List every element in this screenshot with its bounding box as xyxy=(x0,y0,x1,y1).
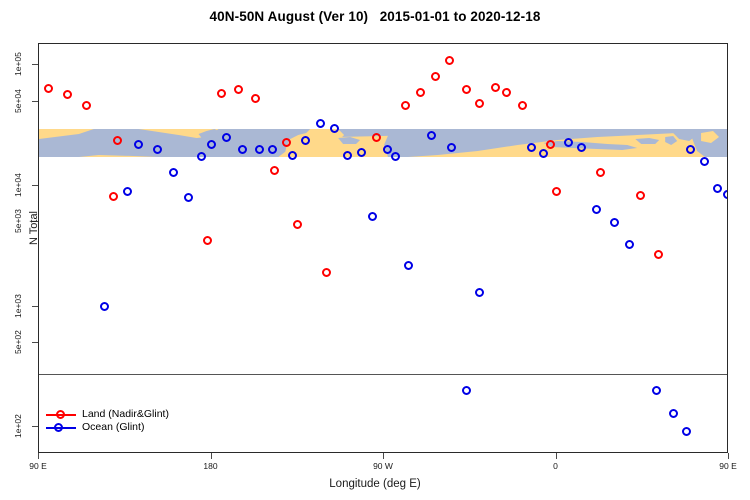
legend: Land (Nadir&Glint) Ocean (Glint) xyxy=(46,408,169,434)
data-point-ocean xyxy=(238,145,247,154)
y-axis-tick-label: 1e+05 xyxy=(13,47,23,81)
data-point-land xyxy=(322,268,331,277)
data-point-land xyxy=(636,191,645,200)
x-axis-tick xyxy=(38,453,39,459)
y-axis-tick-label: 5e+03 xyxy=(13,204,23,238)
data-point-ocean xyxy=(682,427,691,436)
data-point-ocean xyxy=(577,143,586,152)
data-point-ocean xyxy=(123,187,132,196)
x-axis-tick-label: 90 W xyxy=(373,461,393,471)
data-point-land xyxy=(109,192,118,201)
data-point-ocean xyxy=(197,152,206,161)
x-axis-tick xyxy=(728,453,729,459)
data-point-land xyxy=(401,101,410,110)
y-axis-tick xyxy=(32,64,38,65)
x-axis-tick xyxy=(383,453,384,459)
data-point-ocean xyxy=(222,133,231,142)
data-point-ocean xyxy=(475,288,484,297)
data-point-land xyxy=(518,101,527,110)
x-axis-tick-label: 180 xyxy=(203,461,217,471)
data-point-land xyxy=(293,220,302,229)
data-point-ocean xyxy=(134,140,143,149)
data-point-ocean xyxy=(713,184,722,193)
y-axis-tick-label: 5e+02 xyxy=(13,325,23,359)
data-point-land xyxy=(431,72,440,81)
data-point-ocean xyxy=(343,151,352,160)
legend-label-land: Land (Nadir&Glint) xyxy=(82,408,169,421)
data-point-land xyxy=(654,250,663,259)
data-point-ocean xyxy=(316,119,325,128)
data-point-land xyxy=(63,90,72,99)
data-point-ocean xyxy=(652,386,661,395)
data-point-ocean xyxy=(564,138,573,147)
x-axis-tick xyxy=(211,453,212,459)
plot-area xyxy=(38,43,728,453)
data-point-land xyxy=(462,85,471,94)
data-point-land xyxy=(372,133,381,142)
data-point-ocean xyxy=(625,240,634,249)
data-point-land xyxy=(217,89,226,98)
data-point-ocean xyxy=(184,193,193,202)
data-point-ocean xyxy=(723,190,728,199)
data-point-ocean xyxy=(301,136,310,145)
y-axis-tick-label: 1e+04 xyxy=(13,168,23,202)
data-point-land xyxy=(552,187,561,196)
data-point-ocean xyxy=(447,143,456,152)
data-point-ocean xyxy=(207,140,216,149)
scatter-plot-figure: 40N-50N August (Ver 10) 2015-01-01 to 20… xyxy=(0,0,750,500)
y-axis-tick-label: 1e+03 xyxy=(13,289,23,323)
x-axis-tick-label: 90 E xyxy=(719,461,737,471)
y-axis-label: N Total xyxy=(28,168,40,288)
page-title: 40N-50N August (Ver 10) 2015-01-01 to 20… xyxy=(0,9,750,24)
data-point-land xyxy=(445,56,454,65)
y-axis-tick xyxy=(32,306,38,307)
data-point-ocean xyxy=(669,409,678,418)
data-point-land xyxy=(475,99,484,108)
data-point-land xyxy=(82,101,91,110)
data-point-land xyxy=(270,166,279,175)
data-point-ocean xyxy=(592,205,601,214)
data-point-ocean xyxy=(610,218,619,227)
data-point-ocean xyxy=(268,145,277,154)
data-point-ocean xyxy=(100,302,109,311)
data-point-ocean xyxy=(391,152,400,161)
legend-marker-land xyxy=(46,409,76,420)
data-point-ocean xyxy=(383,145,392,154)
data-point-land xyxy=(491,83,500,92)
legend-label-ocean: Ocean (Glint) xyxy=(82,421,144,434)
data-point-land xyxy=(251,94,260,103)
legend-marker-ocean xyxy=(46,422,76,433)
data-point-land xyxy=(113,136,122,145)
data-point-land xyxy=(502,88,511,97)
legend-item-ocean: Ocean (Glint) xyxy=(46,421,169,434)
x-axis-label: Longitude (deg E) xyxy=(0,478,750,490)
data-point-ocean xyxy=(686,145,695,154)
y-axis-tick-label: 5e+04 xyxy=(13,84,23,118)
data-point-ocean xyxy=(539,149,548,158)
data-point-land xyxy=(282,138,291,147)
data-point-land xyxy=(416,88,425,97)
data-point-land xyxy=(596,168,605,177)
data-point-ocean xyxy=(153,145,162,154)
x-axis-tick xyxy=(556,453,557,459)
data-point-land xyxy=(44,84,53,93)
y-axis-tick xyxy=(32,101,38,102)
y-axis-tick xyxy=(32,342,38,343)
data-point-land xyxy=(203,236,212,245)
data-point-ocean xyxy=(700,157,709,166)
data-point-land xyxy=(234,85,243,94)
data-point-land xyxy=(546,140,555,149)
data-point-ocean xyxy=(357,148,366,157)
x-axis-tick-label: 0 xyxy=(553,461,558,471)
data-point-ocean xyxy=(169,168,178,177)
data-point-ocean xyxy=(404,261,413,270)
x-axis-tick-label: 90 E xyxy=(29,461,47,471)
data-point-ocean xyxy=(427,131,436,140)
data-points-layer xyxy=(39,44,727,452)
data-point-ocean xyxy=(330,124,339,133)
y-axis-tick-label: 1e+02 xyxy=(13,409,23,443)
data-point-ocean xyxy=(288,151,297,160)
data-point-ocean xyxy=(255,145,264,154)
legend-item-land: Land (Nadir&Glint) xyxy=(46,408,169,421)
data-point-ocean xyxy=(527,143,536,152)
data-point-ocean xyxy=(462,386,471,395)
y-axis-tick xyxy=(32,426,38,427)
data-point-ocean xyxy=(368,212,377,221)
